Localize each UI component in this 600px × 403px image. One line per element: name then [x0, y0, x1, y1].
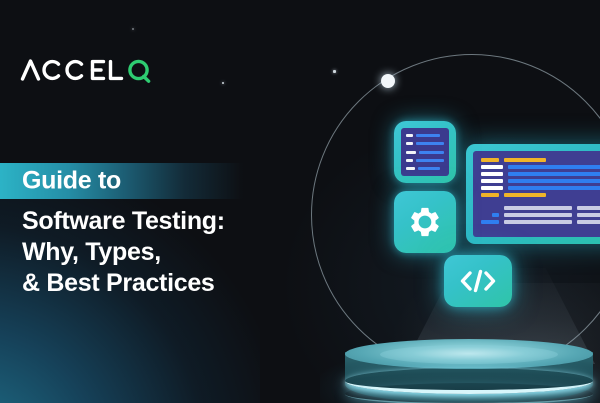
list-row: [406, 151, 444, 154]
code-brackets-card: [444, 255, 512, 307]
list-row: [406, 159, 444, 162]
code-line: [481, 213, 600, 217]
headline-line-3: Why, Types,: [22, 237, 330, 268]
pedestal-body: [345, 352, 593, 402]
list-row: [406, 167, 444, 170]
code-line: [481, 206, 600, 210]
headline-rest: Software Testing: Why, Types, & Best Pra…: [0, 206, 330, 299]
star-dot: [222, 82, 224, 84]
code-brackets-icon: [459, 268, 497, 294]
gear-card: [394, 191, 456, 253]
banner-root: Guide to Software Testing: Why, Types, &…: [0, 0, 600, 403]
code-line: [481, 186, 600, 190]
code-line: [481, 220, 600, 224]
orbit-node: [381, 74, 395, 88]
pedestal-glow: [320, 348, 600, 403]
list-row: [406, 142, 444, 145]
pedestal-inner-disc: [380, 345, 558, 364]
pedestal-neon-ring-secondary: [345, 383, 593, 403]
accelq-logo[interactable]: [20, 56, 151, 84]
code-line: [481, 158, 600, 162]
headline-line-2: Software Testing:: [22, 206, 330, 237]
pedestal-neon-ring: [345, 368, 593, 394]
background-bottom-right-sheen: [390, 283, 600, 403]
gear-icon: [408, 205, 442, 239]
code-window: [466, 144, 600, 244]
star-dot: [132, 28, 134, 30]
accelq-logo-mark: [20, 56, 151, 84]
star-dot: [333, 70, 336, 73]
list-row: [406, 134, 444, 137]
headline-block: Guide to Software Testing: Why, Types, &…: [0, 163, 330, 299]
code-line: [481, 165, 600, 169]
code-line: [481, 172, 600, 176]
pedestal-top: [345, 339, 593, 369]
list-card-panel: [401, 128, 449, 176]
light-beam: [405, 268, 595, 364]
headline-line-4: & Best Practices: [22, 268, 330, 299]
headline-line-1: Guide to: [22, 167, 121, 196]
code-line: [481, 179, 600, 183]
orbit-arc: [311, 54, 600, 376]
code-window-screen: [473, 151, 600, 237]
headline-highlight-bar: Guide to: [0, 163, 243, 199]
list-card: [394, 121, 456, 183]
code-line: [481, 193, 600, 197]
